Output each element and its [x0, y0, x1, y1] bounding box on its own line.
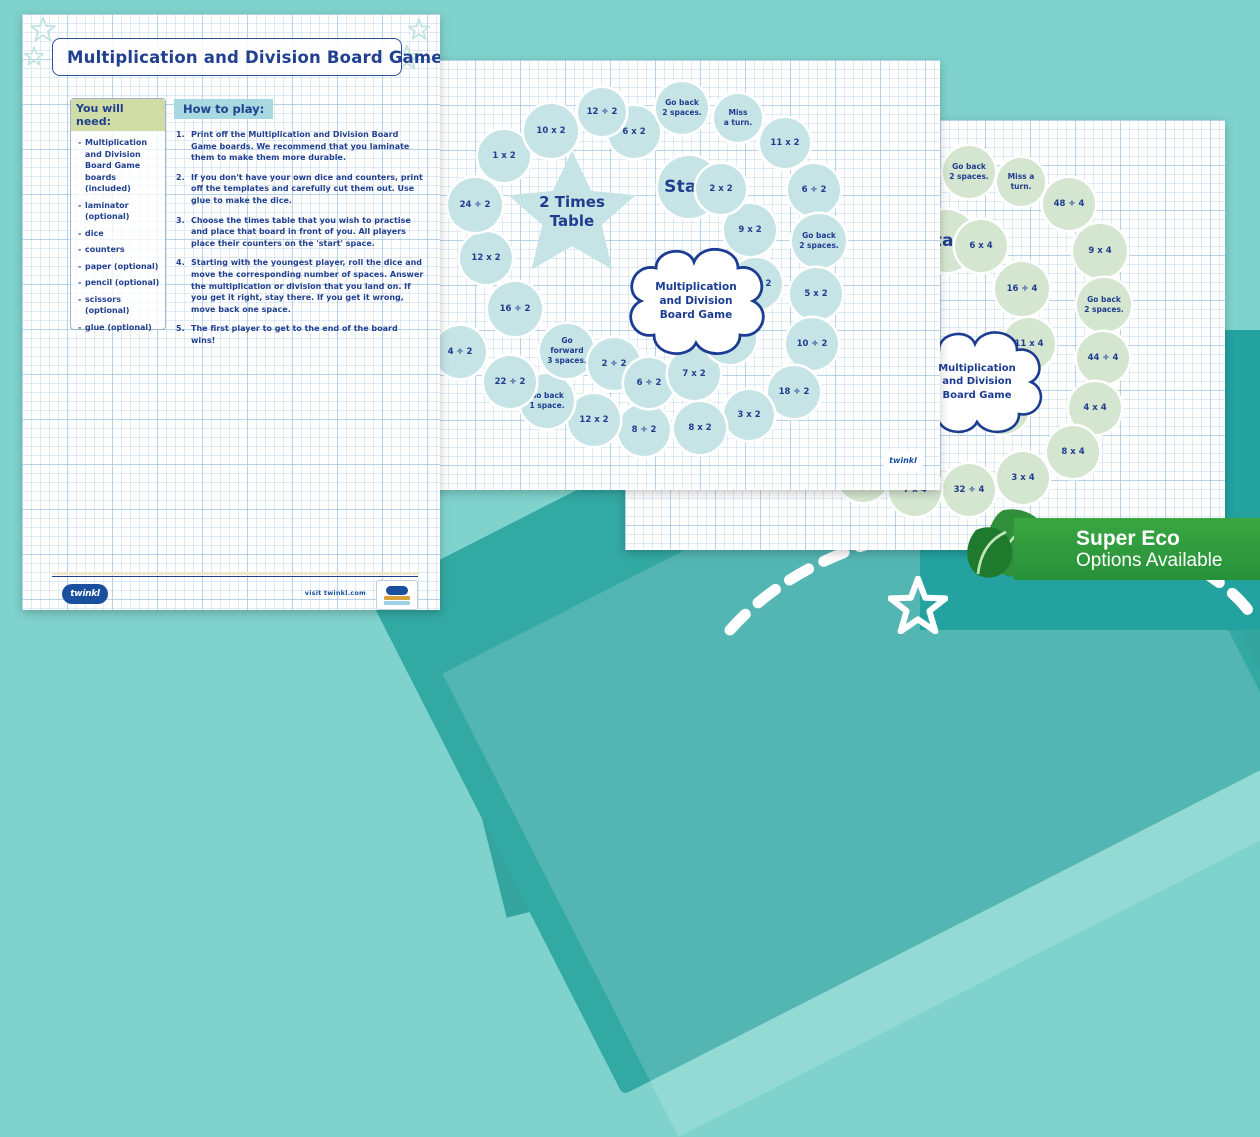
board-space-line: 2 spaces.	[799, 241, 839, 251]
board-space-line: 32 ÷ 4	[954, 485, 985, 495]
board-space-line: 8 x 4	[1061, 447, 1084, 457]
you-will-need-item: Multiplication and Division Board Game b…	[78, 137, 160, 195]
board-space[interactable]: 3 x 4	[997, 452, 1049, 504]
board-space-line: 5 x 2	[804, 289, 827, 299]
board-space-line: Go back	[952, 162, 986, 172]
you-will-need-item: laminator (optional)	[78, 200, 160, 223]
board-space-line: 3 x 4	[1011, 473, 1034, 483]
eco-badge-subtitle: Options Available	[1076, 550, 1260, 572]
board-space-line: forward	[550, 346, 583, 356]
board-space-line: 4 ÷ 2	[448, 347, 473, 357]
board-space-line: 3 spaces.	[547, 356, 587, 366]
board-space[interactable]: 6 x 4	[955, 220, 1007, 272]
board-space-line: 16 ÷ 4	[1007, 284, 1038, 294]
board-space[interactable]: 11 x 2	[760, 118, 810, 168]
you-will-need-item: pencil (optional)	[78, 277, 160, 289]
board-space-line: 24 ÷ 2	[460, 200, 491, 210]
board-space[interactable]: Go back2 spaces.	[943, 146, 995, 198]
board-space-line: 10 x 2	[536, 126, 565, 136]
board-space-line: 6 x 2	[622, 127, 645, 137]
star-icon	[408, 18, 430, 40]
board-space[interactable]: 8 ÷ 2	[618, 404, 670, 456]
board-space-line: 18 ÷ 2	[779, 387, 810, 397]
twinkl-logo: twinkl	[884, 452, 922, 469]
you-will-need-item: scissors (optional)	[78, 294, 160, 317]
board-space-line: 9 x 4	[1088, 246, 1111, 256]
you-will-need-item: glue (optional)	[78, 322, 160, 334]
footer-divider-accent	[52, 572, 418, 575]
board-space[interactable]: 6 ÷ 2	[788, 164, 840, 216]
you-will-need-list: Multiplication and Division Board Game b…	[71, 137, 165, 333]
board-space-line: 3 x 2	[737, 410, 760, 420]
board-space-line: Miss a	[1008, 172, 1035, 182]
super-eco-badge[interactable]: Super Eco Options Available	[1014, 518, 1260, 580]
how-to-play-step: Choose the times table that you wish to …	[174, 215, 424, 250]
board-space[interactable]: 48 ÷ 4	[1043, 178, 1095, 230]
star-icon	[24, 46, 44, 66]
board-space-line: 6 x 4	[969, 241, 992, 251]
board-space-line: 8 x 2	[688, 423, 711, 433]
board-space[interactable]: 9 x 4	[1073, 224, 1127, 278]
board-space[interactable]: 24 ÷ 2	[448, 178, 502, 232]
board-space-line: 11 x 2	[770, 138, 799, 148]
board-space-line: 12 x 2	[471, 253, 500, 263]
you-will-need-item: dice	[78, 228, 160, 240]
board-space-line: 2 x 2	[709, 184, 732, 194]
board-space-line: Go back	[530, 391, 564, 401]
twinkl-logo: twinkl	[62, 584, 108, 604]
board-two-cloud-title: Multiplication and Division Board Game	[608, 236, 784, 366]
board-space[interactable]: 10 x 2	[524, 104, 578, 158]
you-will-need-panel: You will need: Multiplication and Divisi…	[70, 98, 166, 330]
how-to-play-steps: Print off the Multiplication and Divisio…	[174, 129, 424, 347]
board-space[interactable]: 16 ÷ 4	[995, 262, 1049, 316]
board-space[interactable]: 44 ÷ 4	[1077, 332, 1129, 384]
board-space-line: Go back	[1087, 295, 1121, 305]
board-space[interactable]: 16 ÷ 2	[488, 282, 542, 336]
screenshot-stage: StartGo back2 spaces.Miss aturn.48 ÷ 49 …	[0, 0, 1260, 630]
star-icon	[888, 576, 948, 634]
board-space-line: Miss	[729, 108, 748, 118]
board-space-line: turn.	[1011, 182, 1032, 192]
board-space[interactable]: 18 ÷ 2	[768, 366, 820, 418]
board-space[interactable]: 2 x 2	[696, 164, 746, 214]
you-will-need-item: paper (optional)	[78, 261, 160, 273]
cover-sheet[interactable]: Multiplication and Division Board Games …	[22, 14, 440, 610]
board-space-line: 44 ÷ 4	[1088, 353, 1119, 363]
board-space-line: 2 spaces.	[1084, 305, 1124, 315]
board-space-line: 6 ÷ 2	[802, 185, 827, 195]
board-space[interactable]: 5 x 2	[790, 268, 842, 320]
twinkl-badge-icon	[376, 580, 418, 610]
board-space-line: 6 ÷ 2	[637, 378, 662, 388]
board-space[interactable]: 22 ÷ 2	[484, 356, 536, 408]
board-space-line: 16 ÷ 2	[500, 304, 531, 314]
eco-badge-title: Super Eco	[1076, 527, 1260, 550]
board-space[interactable]: Miss aturn.	[997, 158, 1045, 206]
board-space-line: 2 spaces.	[949, 172, 989, 182]
board-space[interactable]: 8 x 2	[674, 402, 726, 454]
board-space[interactable]: 12 x 2	[568, 394, 620, 446]
board-space-line: 4 x 4	[1083, 403, 1106, 413]
board-space-line: a turn.	[724, 118, 752, 128]
badge-line-2	[384, 601, 410, 605]
page-title: Multiplication and Division Board Games	[52, 38, 402, 76]
badge-cloud-icon	[386, 586, 408, 595]
board-space[interactable]: 12 ÷ 2	[578, 88, 626, 136]
board-space-line: 7 x 2	[682, 369, 705, 379]
board-space-line: 9 x 2	[738, 225, 761, 235]
footer-divider	[52, 576, 418, 577]
how-to-play-step: Print off the Multiplication and Divisio…	[174, 129, 424, 164]
board-space-line: Go back	[665, 98, 699, 108]
board-space[interactable]: 10 ÷ 2	[786, 318, 838, 370]
board-space-line: 22 ÷ 2	[495, 377, 526, 387]
how-to-play-step: The first player to get to the end of th…	[174, 323, 424, 346]
board-space[interactable]: Go back2 spaces.	[656, 82, 708, 134]
board-space-line: 12 ÷ 2	[587, 107, 618, 117]
board-space[interactable]: Go back2 spaces.	[1077, 278, 1131, 332]
board-space-line: 12 x 2	[579, 415, 608, 425]
board-space[interactable]: 4 ÷ 2	[434, 326, 486, 378]
how-to-play-heading: How to play:	[174, 99, 273, 119]
board-space-line: 48 ÷ 4	[1054, 199, 1085, 209]
board-space[interactable]: Goforward3 spaces.	[540, 324, 594, 378]
how-to-play-panel: How to play: Print off the Multiplicatio…	[174, 98, 424, 355]
board-space[interactable]: Missa turn.	[714, 94, 762, 142]
star-icon	[30, 16, 56, 42]
board-space-line: 8 ÷ 2	[632, 425, 657, 435]
board-space-line: Go	[561, 336, 572, 346]
board-space-line: Go back	[802, 231, 836, 241]
board-space-line: 2 spaces.	[662, 108, 702, 118]
how-to-play-step: If you don't have your own dice and coun…	[174, 172, 424, 207]
board-space-line: 10 ÷ 2	[797, 339, 828, 349]
board-space-line: 1 space.	[529, 401, 564, 411]
visit-twinkl-text: visit twinkl.com	[305, 589, 366, 597]
you-will-need-heading: You will need:	[71, 99, 165, 131]
you-will-need-item: counters	[78, 244, 160, 256]
board-space-line: 1 x 2	[492, 151, 515, 161]
how-to-play-step: Starting with the youngest player, roll …	[174, 257, 424, 315]
badge-line-1	[384, 596, 410, 600]
board-space[interactable]: Go back2 spaces.	[792, 214, 846, 268]
board-space[interactable]: 3 x 2	[724, 390, 774, 440]
